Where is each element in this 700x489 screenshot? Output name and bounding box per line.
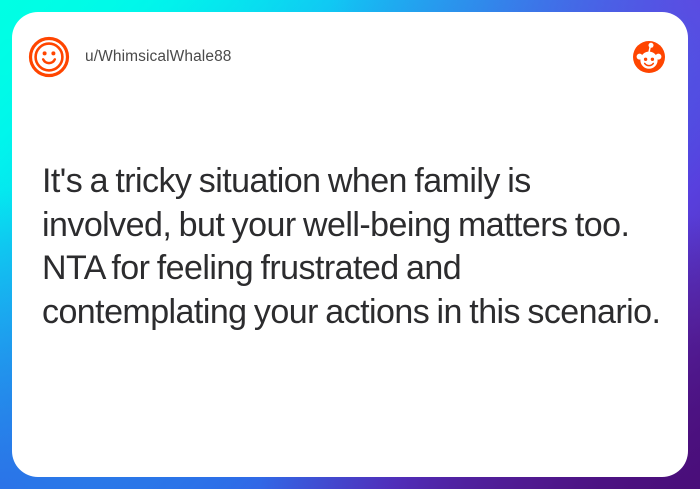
smiley-face-avatar-icon[interactable]	[28, 36, 70, 78]
reddit-snoo-logo-icon[interactable]	[632, 40, 666, 74]
comment-body-text: It's a tricky situation when family is i…	[42, 160, 662, 334]
comment-header: u/WhimsicalWhale88	[12, 32, 688, 82]
username-label[interactable]: u/WhimsicalWhale88	[85, 48, 232, 66]
reddit-comment-card: u/WhimsicalWhale88 It's a tricky situati…	[12, 12, 688, 477]
